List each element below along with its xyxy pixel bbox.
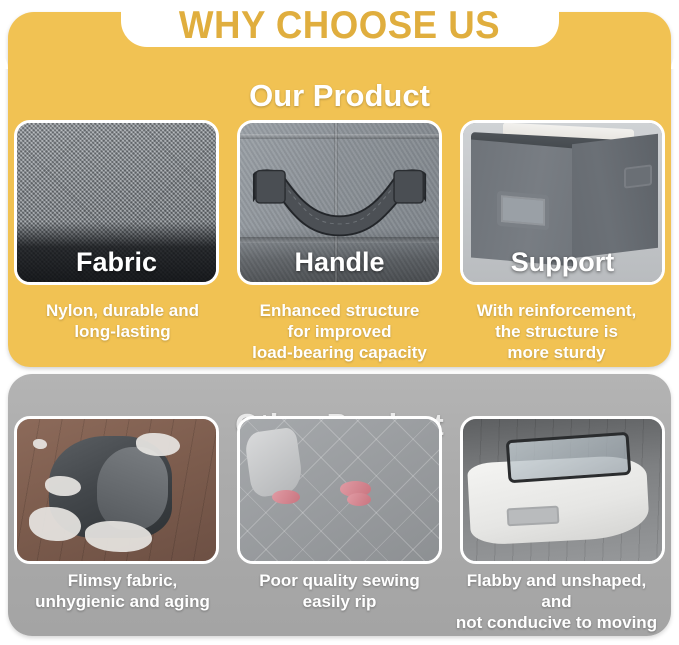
caption-support: With reinforcement, the structure is mor… — [448, 300, 665, 363]
floppy-bag-handle — [506, 506, 559, 527]
torn-quilted-fabric-art — [240, 419, 439, 561]
notch-corner-left — [0, 47, 8, 69]
our-product-tile-row: Fabric Handle — [14, 120, 665, 285]
our-product-caption-row: Nylon, durable and long-lasting Enhanced… — [14, 300, 665, 363]
torn-strap — [244, 427, 304, 499]
our-product-tile-support: Support — [460, 120, 665, 285]
our-product-panel: WHY CHOOSE US Our Product Fabric — [8, 12, 671, 367]
wavy-handle-icon — [252, 161, 427, 237]
why-choose-us-infographic: WHY CHOOSE US Our Product Fabric — [0, 0, 679, 645]
debris-piece — [85, 521, 153, 552]
debris-piece — [45, 476, 81, 496]
other-product-panel: Other Product — [8, 374, 671, 636]
page-title: WHY CHOOSE US — [28, 4, 651, 48]
bin-top-edge — [240, 134, 439, 139]
notch-corner-right — [671, 47, 679, 69]
other-product-tile-flimsy — [14, 416, 219, 564]
our-product-tile-handle: Handle — [237, 120, 442, 285]
debris-piece — [29, 507, 81, 541]
pink-tear — [347, 493, 371, 506]
bin-bottom-edge — [240, 237, 439, 243]
pink-tear — [272, 490, 300, 504]
label-window — [497, 191, 549, 230]
floppy-bag-window — [505, 432, 631, 483]
tile-label-support: Support — [463, 247, 662, 278]
our-product-heading: Our Product — [8, 78, 671, 114]
our-product-tile-fabric: Fabric — [14, 120, 219, 285]
caption-handle: Enhanced structure for improved load-bea… — [231, 300, 448, 363]
collapsed-bag-art — [17, 419, 216, 561]
box-side-handle — [624, 164, 652, 188]
other-product-tile-row — [14, 416, 665, 564]
tile-label-fabric: Fabric — [17, 247, 216, 278]
other-product-caption-row: Flimsy fabric, unhygienic and aging Poor… — [14, 570, 665, 633]
box-right-face — [572, 134, 658, 259]
other-product-tile-flabby — [460, 416, 665, 564]
debris-piece — [136, 433, 180, 456]
caption-flabby: Flabby and unshaped, and not conducive t… — [448, 570, 665, 633]
caption-sewing: Poor quality sewing easily rip — [231, 570, 448, 633]
other-product-tile-sewing — [237, 416, 442, 564]
bag-mass-secondary — [97, 447, 169, 529]
debris-piece — [33, 439, 47, 449]
caption-flimsy: Flimsy fabric, unhygienic and aging — [14, 570, 231, 633]
caption-fabric: Nylon, durable and long-lasting — [14, 300, 231, 363]
tile-label-handle: Handle — [240, 247, 439, 278]
floppy-bag-art — [463, 419, 662, 561]
